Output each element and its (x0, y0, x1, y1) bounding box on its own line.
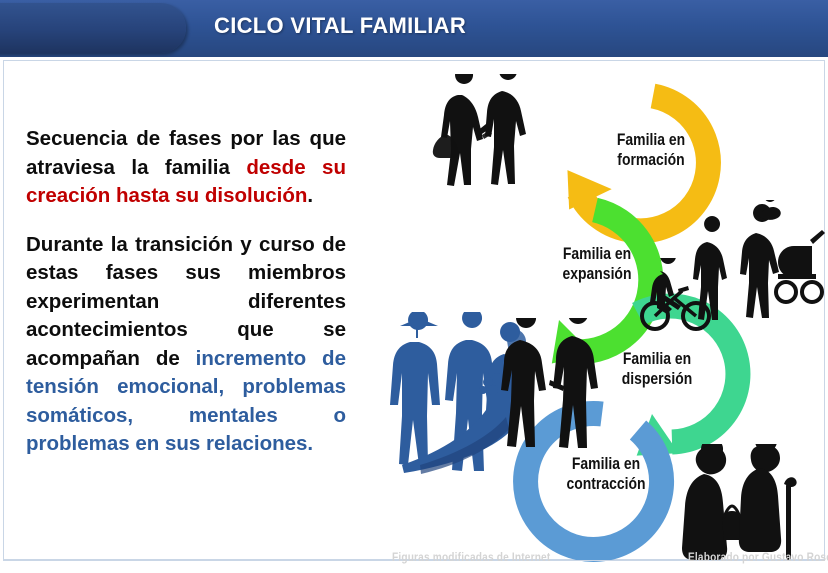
couple-walking-holding-hands-silhouette (428, 74, 548, 199)
stage-label-dispersion-line2: dispersión (596, 369, 719, 389)
paragraph-1: Secuencia de fases por las que atraviesa… (26, 125, 346, 211)
child-on-bicycle-silhouette (638, 258, 720, 332)
slide: CICLO VITAL FAMILIAR Secuencia de fases … (0, 0, 828, 573)
bottom-strip (0, 566, 828, 573)
page-title: CICLO VITAL FAMILIAR (214, 13, 466, 39)
stage-label-formacion-line1: Familia en (590, 130, 713, 150)
footer-source-note: Figuras modificadas de Internet (392, 552, 550, 564)
header-tab-shape (0, 3, 186, 53)
text-column: Secuencia de fases por las que atraviesa… (26, 125, 346, 459)
paragraph-2: Durante la transición y curso de estas f… (26, 231, 346, 459)
stage-label-dispersion: Familia en dispersión (596, 349, 719, 389)
stage-label-formacion: Familia en formación (590, 130, 713, 170)
stage-label-dispersion-line1: Familia en (596, 349, 719, 369)
paragraph-1-period: . (307, 184, 313, 207)
stage-label-formacion-line2: formación (590, 150, 713, 170)
elderly-couple-with-cane-silhouette (678, 444, 806, 564)
footer-author-note: Elaborado por Gustavo Rosell (688, 552, 828, 564)
family-lifecycle-diagram: Familia en formación Familia en expansió… (360, 62, 828, 562)
young-couple-walking-silhouette (496, 318, 612, 454)
